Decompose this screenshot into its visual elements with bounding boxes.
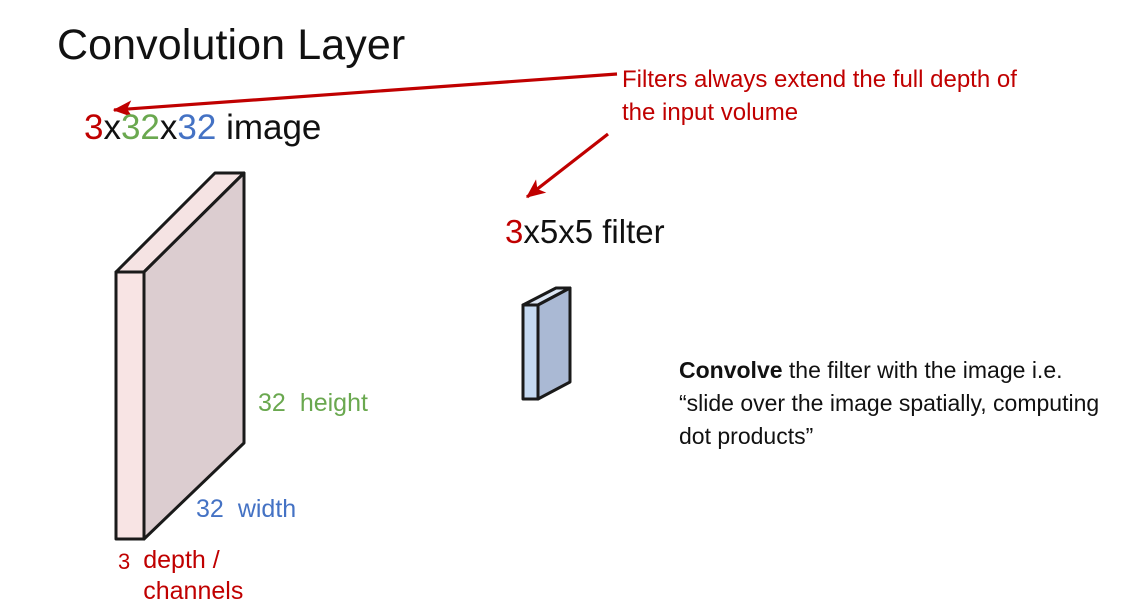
caption-part-sep2: x (160, 108, 178, 147)
width-name: width (238, 495, 296, 523)
arrow-to-filter-volume (527, 134, 608, 197)
arrow-to-image-volume (114, 74, 617, 110)
caption-part-depth: 3 (84, 108, 103, 147)
image-volume-top-face (116, 173, 244, 272)
filter-caption-part-rest: x5x5 filter (523, 213, 664, 250)
width-value: 32 (196, 495, 224, 523)
height-name: height (300, 389, 368, 417)
height-dimension-label: 32height (258, 390, 368, 418)
height-value: 32 (258, 389, 286, 417)
depth-name: depth / channels (143, 545, 243, 607)
convolve-description: Convolve the filter with the image i.e. … (679, 354, 1109, 453)
caption-part-width: 32 (177, 108, 216, 147)
depth-dimension-label: 3 depth / channels (118, 545, 243, 607)
slide-canvas: Convolution Layer 3x32x32 image 3x5x5 fi… (0, 0, 1143, 611)
width-dimension-label: 32width (196, 496, 296, 524)
depth-name-line-1: depth / (143, 545, 243, 576)
page-title: Convolution Layer (57, 22, 405, 69)
caption-part-height: 32 (121, 108, 160, 147)
convolve-keyword: Convolve (679, 357, 783, 383)
depth-annotation-note: Filters always extend the full depth of … (622, 63, 1022, 129)
filter-volume-front-face (538, 288, 570, 399)
filter-caption: 3x5x5 filter (505, 213, 665, 251)
filter-volume-top-face (523, 288, 570, 305)
caption-part-sep1: x (103, 108, 121, 147)
input-image-volume (116, 173, 244, 539)
filter-volume (523, 288, 570, 399)
image-volume-front-face (144, 173, 244, 539)
depth-value: 3 (118, 545, 130, 574)
filter-volume-side-face (523, 305, 538, 399)
filter-caption-part-depth: 3 (505, 213, 523, 250)
image-volume-side-face (116, 272, 144, 539)
image-volume-caption: 3x32x32 image (84, 108, 321, 148)
caption-part-noun: image (216, 108, 321, 147)
depth-name-line-2: channels (143, 576, 243, 607)
